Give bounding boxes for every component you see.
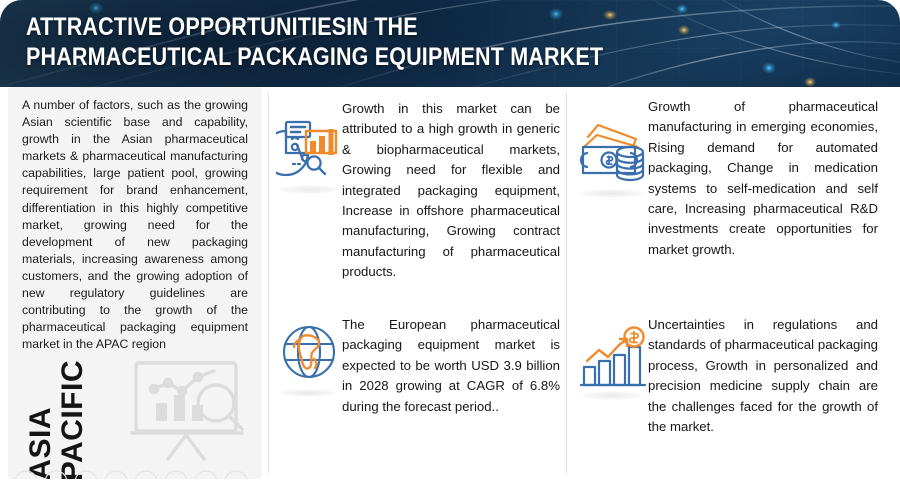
presentation-chart-magnifier-icon (124, 359, 254, 469)
icon-shadow (278, 389, 338, 397)
globe-icon (278, 323, 340, 385)
left-region-panel: A number of factors, such as the growing… (8, 87, 262, 479)
bar-chart-growth-dollar-icon (578, 325, 650, 397)
column-divider-2 (566, 93, 567, 473)
left-panel-body-text: A number of factors, such as the growing… (22, 97, 248, 353)
money-cash-coins-icon (578, 115, 650, 187)
icon-shadow (580, 391, 644, 400)
insight-card-text: Growth in this market can be attributed … (342, 99, 560, 283)
region-label: ASIA PACIFIC (22, 357, 122, 479)
column-divider-1 (268, 93, 269, 473)
infographic-page: ATTRACTIVE OPPORTUNITIESIN THE PHARMACEU… (0, 0, 900, 486)
header-banner: ATTRACTIVE OPPORTUNITIESIN THE PHARMACEU… (0, 0, 900, 87)
icon-shadow (278, 185, 340, 194)
region-label-line2: PACIFIC (58, 360, 88, 479)
pie-chart-bar-magnifier-icon (276, 117, 344, 185)
decorative-circles-row (8, 468, 262, 479)
insight-card-text: The European pharmaceutical packaging eq… (342, 315, 560, 417)
insight-card-text: Growth of pharmaceutical manufacturing i… (648, 97, 878, 260)
insight-card-text: Uncertainties in regulations and standar… (648, 315, 878, 437)
content-area: A number of factors, such as the growing… (0, 87, 900, 486)
icon-shadow (580, 189, 644, 198)
page-title: ATTRACTIVE OPPORTUNITIESIN THE PHARMACEU… (26, 12, 603, 72)
